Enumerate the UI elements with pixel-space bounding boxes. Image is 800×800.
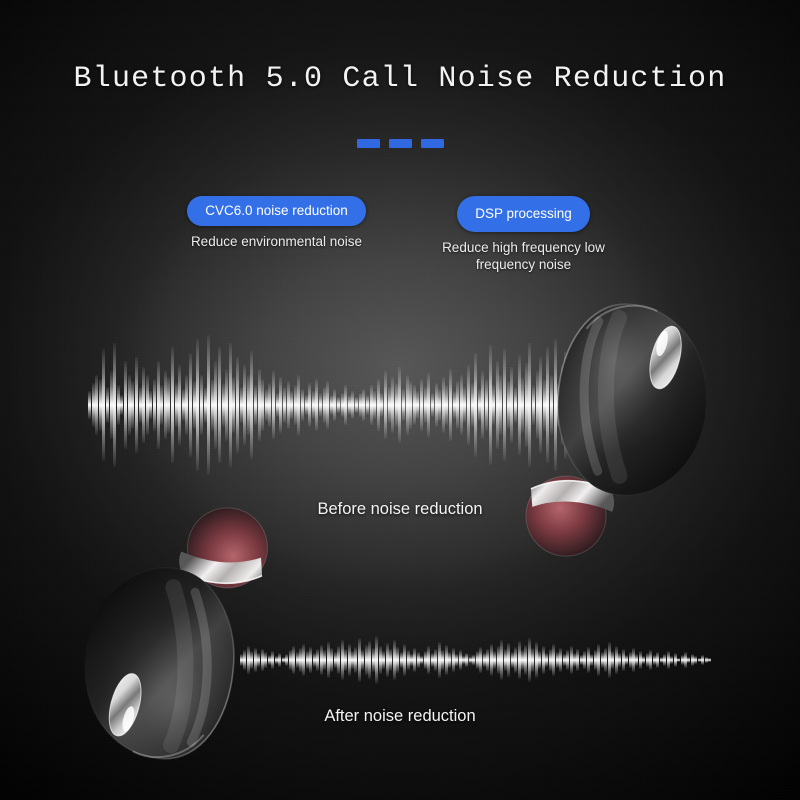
- waveform-bar: [368, 641, 371, 679]
- waveform-bar: [416, 391, 419, 419]
- waveform-bar: [302, 644, 305, 676]
- waveform-bar: [398, 367, 401, 443]
- waveform-bar: [171, 347, 174, 463]
- waveform-bar: [341, 393, 344, 417]
- waveform-bar: [337, 646, 340, 674]
- waveform-bar: [229, 343, 232, 467]
- waveform-bar: [319, 393, 322, 417]
- waveform-bar: [663, 654, 666, 666]
- waveform-bar: [193, 381, 196, 429]
- waveform-bar: [309, 647, 312, 673]
- waveform-bar: [481, 371, 484, 439]
- waveform-bar: [285, 654, 288, 666]
- waveform-bar: [330, 395, 333, 415]
- waveform-bar: [677, 658, 680, 662]
- waveform-bar: [597, 644, 600, 676]
- waveform-bar: [175, 383, 178, 427]
- waveform-bar: [445, 385, 448, 425]
- feature-badge-cvc6: CVC6.0 noise reduction: [187, 196, 366, 226]
- waveform-bar: [456, 381, 459, 429]
- waveform-bar: [479, 647, 482, 673]
- waveform-bar: [207, 335, 210, 475]
- waveform-bar: [164, 371, 167, 439]
- waveform-bar: [271, 651, 274, 669]
- waveform-bar: [128, 375, 131, 435]
- waveform-bar: [604, 648, 607, 672]
- waveform-bar: [463, 387, 466, 423]
- waveform-bar: [485, 379, 488, 431]
- waveform-bar: [236, 357, 239, 453]
- waveform-bar: [254, 385, 257, 425]
- waveform-bar: [441, 650, 444, 670]
- waveform-bar: [396, 647, 399, 673]
- waveform-bar: [420, 379, 423, 431]
- waveform-bar: [261, 379, 264, 431]
- waveform-bar: [438, 389, 441, 421]
- waveform-bar: [292, 646, 295, 674]
- waveform-bar: [442, 377, 445, 433]
- waveform-bar: [531, 648, 534, 672]
- product-image-earbud-top-right: [522, 293, 721, 569]
- waveform-bar: [250, 351, 253, 459]
- waveform-bar: [361, 650, 364, 670]
- waveform-bar: [389, 649, 392, 671]
- waveform-bar: [370, 385, 373, 425]
- waveform-bar: [323, 650, 326, 670]
- waveform-bar: [279, 377, 282, 433]
- waveform-bar: [449, 369, 452, 441]
- waveform-bar: [330, 648, 333, 672]
- waveform-bar: [507, 643, 510, 677]
- feature-description-dsp: Reduce high frequency low frequency nois…: [426, 240, 621, 273]
- waveform-bar: [413, 648, 416, 672]
- feature-dsp: DSP processing Reduce high frequency low…: [426, 196, 621, 273]
- waveform-bar: [301, 389, 304, 421]
- waveform-bar: [88, 391, 91, 419]
- product-image-earbud-bottom-left: [68, 492, 272, 772]
- waveform-bar: [110, 371, 113, 439]
- waveform-bar: [316, 649, 319, 671]
- waveform-bar: [167, 377, 170, 433]
- waveform-bar: [196, 339, 199, 471]
- waveform-bar: [290, 391, 293, 419]
- waveform-bar: [493, 651, 496, 669]
- waveform-bar: [435, 383, 438, 427]
- waveform-bar: [308, 383, 311, 427]
- waveform-bar: [471, 383, 474, 427]
- waveform-bar: [524, 645, 527, 675]
- waveform-bar: [95, 375, 98, 435]
- waveform-bar: [395, 383, 398, 427]
- waveform-bar: [642, 656, 645, 664]
- waveform-bar: [359, 393, 362, 417]
- waveform-bar: [326, 381, 329, 429]
- waveform-bar: [489, 345, 492, 465]
- feature-description-cvc6: Reduce environmental noise: [191, 234, 362, 251]
- waveform-bar: [344, 385, 347, 425]
- waveform-bar: [131, 381, 134, 429]
- waveform-bar: [102, 349, 105, 461]
- waveform-bar: [135, 357, 138, 453]
- waveform-bar: [189, 353, 192, 457]
- waveform-bar: [403, 644, 406, 676]
- dash-segment: [389, 139, 412, 148]
- waveform-bar: [294, 385, 297, 425]
- waveform-bar: [424, 387, 427, 423]
- earbud-body: [80, 564, 238, 763]
- waveform-bar: [243, 365, 246, 445]
- waveform-bar: [323, 387, 326, 423]
- feature-badge-dsp: DSP processing: [457, 196, 590, 232]
- waveform-bar: [611, 651, 614, 669]
- waveform-bar: [146, 375, 149, 435]
- waveform-bar: [625, 655, 628, 665]
- waveform-bar: [448, 652, 451, 668]
- waveform-bar: [406, 375, 409, 435]
- waveform-bar: [507, 381, 510, 429]
- waveform-bar: [427, 646, 430, 674]
- waveform-bar: [402, 389, 405, 421]
- waveform-bar: [139, 387, 142, 423]
- waveform-bar: [545, 653, 548, 667]
- waveform-bar: [178, 365, 181, 445]
- waveform-bar: [453, 391, 456, 419]
- waveform-bar: [182, 389, 185, 421]
- waveform-bar: [258, 369, 261, 441]
- waveform-bar: [149, 391, 152, 419]
- waveform-bar: [583, 651, 586, 669]
- waveform-bar: [265, 389, 268, 421]
- waveform-bar: [113, 343, 116, 467]
- waveform-bar: [566, 650, 569, 670]
- waveform-bar: [287, 381, 290, 429]
- waveform-bar: [514, 647, 517, 673]
- waveform-bar: [455, 654, 458, 666]
- waveform-bar: [380, 393, 383, 417]
- waveform-bar: [708, 658, 711, 662]
- waveform-bar: [247, 375, 250, 435]
- page-title: Bluetooth 5.0 Call Noise Reduction: [0, 62, 800, 96]
- waveform-bar: [337, 397, 340, 413]
- waveform-bar: [514, 387, 517, 423]
- waveform-bar: [496, 361, 499, 449]
- waveform-bar: [333, 389, 336, 421]
- waveform-bar: [160, 385, 163, 425]
- waveform-bar: [92, 383, 95, 427]
- waveform-bar: [503, 349, 506, 461]
- earbud-body: [555, 302, 710, 498]
- waveform-bar: [656, 652, 659, 668]
- waveform-bar: [278, 653, 281, 667]
- waveform-bar: [467, 365, 470, 445]
- waveform-bar: [185, 375, 188, 435]
- waveform-bar: [344, 649, 347, 671]
- waveform-bar: [694, 656, 697, 664]
- waveform-bar: [99, 379, 102, 431]
- waveform-bar: [434, 649, 437, 671]
- waveform-bar: [521, 377, 524, 433]
- waveform-bar: [355, 397, 358, 413]
- feature-badge-row: CVC6.0 noise reduction Reduce environmen…: [0, 196, 800, 273]
- waveform-bar: [211, 379, 214, 431]
- waveform-bar: [510, 367, 513, 443]
- waveform-bar: [153, 379, 156, 431]
- waveform-bar: [538, 651, 541, 669]
- waveform-bar: [431, 393, 434, 417]
- waveform-bar: [225, 369, 228, 441]
- waveform-bar: [559, 648, 562, 672]
- dash-segment: [357, 139, 380, 148]
- waveform-bar: [384, 371, 387, 439]
- waveform-bar: [106, 387, 109, 423]
- waveform-bar: [283, 387, 286, 423]
- waveform-bar: [214, 361, 217, 449]
- waveform-bar: [409, 381, 412, 429]
- waveform-bar: [377, 379, 380, 431]
- waveform-bar: [276, 393, 279, 417]
- waveform-bar: [701, 655, 704, 665]
- waveform-bar: [427, 373, 430, 437]
- product-marketing-banner: Bluetooth 5.0 Call Noise Reduction CVC6.…: [0, 0, 800, 800]
- waveform-bar: [552, 644, 555, 676]
- waveform-bar: [200, 375, 203, 435]
- waveform-bar: [366, 395, 369, 415]
- waveform-bar: [618, 653, 621, 667]
- waveform-bar: [373, 391, 376, 419]
- waveform-bar: [124, 361, 127, 449]
- waveform-bar: [272, 371, 275, 439]
- waveform-bar: [315, 379, 318, 431]
- waveform-bar: [420, 656, 423, 664]
- waveform-bar: [117, 385, 120, 425]
- waveform-bar: [472, 655, 475, 665]
- waveform-bar: [460, 375, 463, 435]
- waveform-bar: [218, 347, 221, 463]
- waveform-bar: [297, 375, 300, 435]
- waveform-bar: [649, 650, 652, 670]
- waveform-bar: [500, 640, 503, 680]
- waveform-bar: [204, 387, 207, 423]
- waveform-bar: [142, 367, 145, 443]
- waveform-bar: [486, 649, 489, 671]
- waveform-bar: [375, 636, 378, 684]
- waveform-bar: [388, 387, 391, 423]
- waveform-bar: [157, 361, 160, 449]
- waveform-bar: [305, 395, 308, 415]
- waveform-bar: [590, 654, 593, 666]
- waveform-bar: [670, 656, 673, 664]
- waveform-bar: [382, 651, 385, 669]
- waveform-bar: [264, 652, 267, 668]
- feature-cvc6: CVC6.0 noise reduction Reduce environmen…: [179, 196, 374, 273]
- waveform-bar: [240, 387, 243, 423]
- waveform-bar: [474, 353, 477, 457]
- waveform-bar: [362, 389, 365, 421]
- waveform-bar: [635, 654, 638, 666]
- waveform-bar: [232, 377, 235, 433]
- waveform-bar: [518, 355, 521, 455]
- waveform-bar: [492, 385, 495, 425]
- waveform-bar: [348, 395, 351, 415]
- waveform-bar: [478, 389, 481, 421]
- dash-segment: [421, 139, 444, 148]
- waveform-bar: [222, 383, 225, 427]
- dash-divider: [0, 139, 800, 148]
- waveform-bar: [391, 377, 394, 433]
- waveform-bar: [312, 391, 315, 419]
- waveform-bar: [413, 385, 416, 425]
